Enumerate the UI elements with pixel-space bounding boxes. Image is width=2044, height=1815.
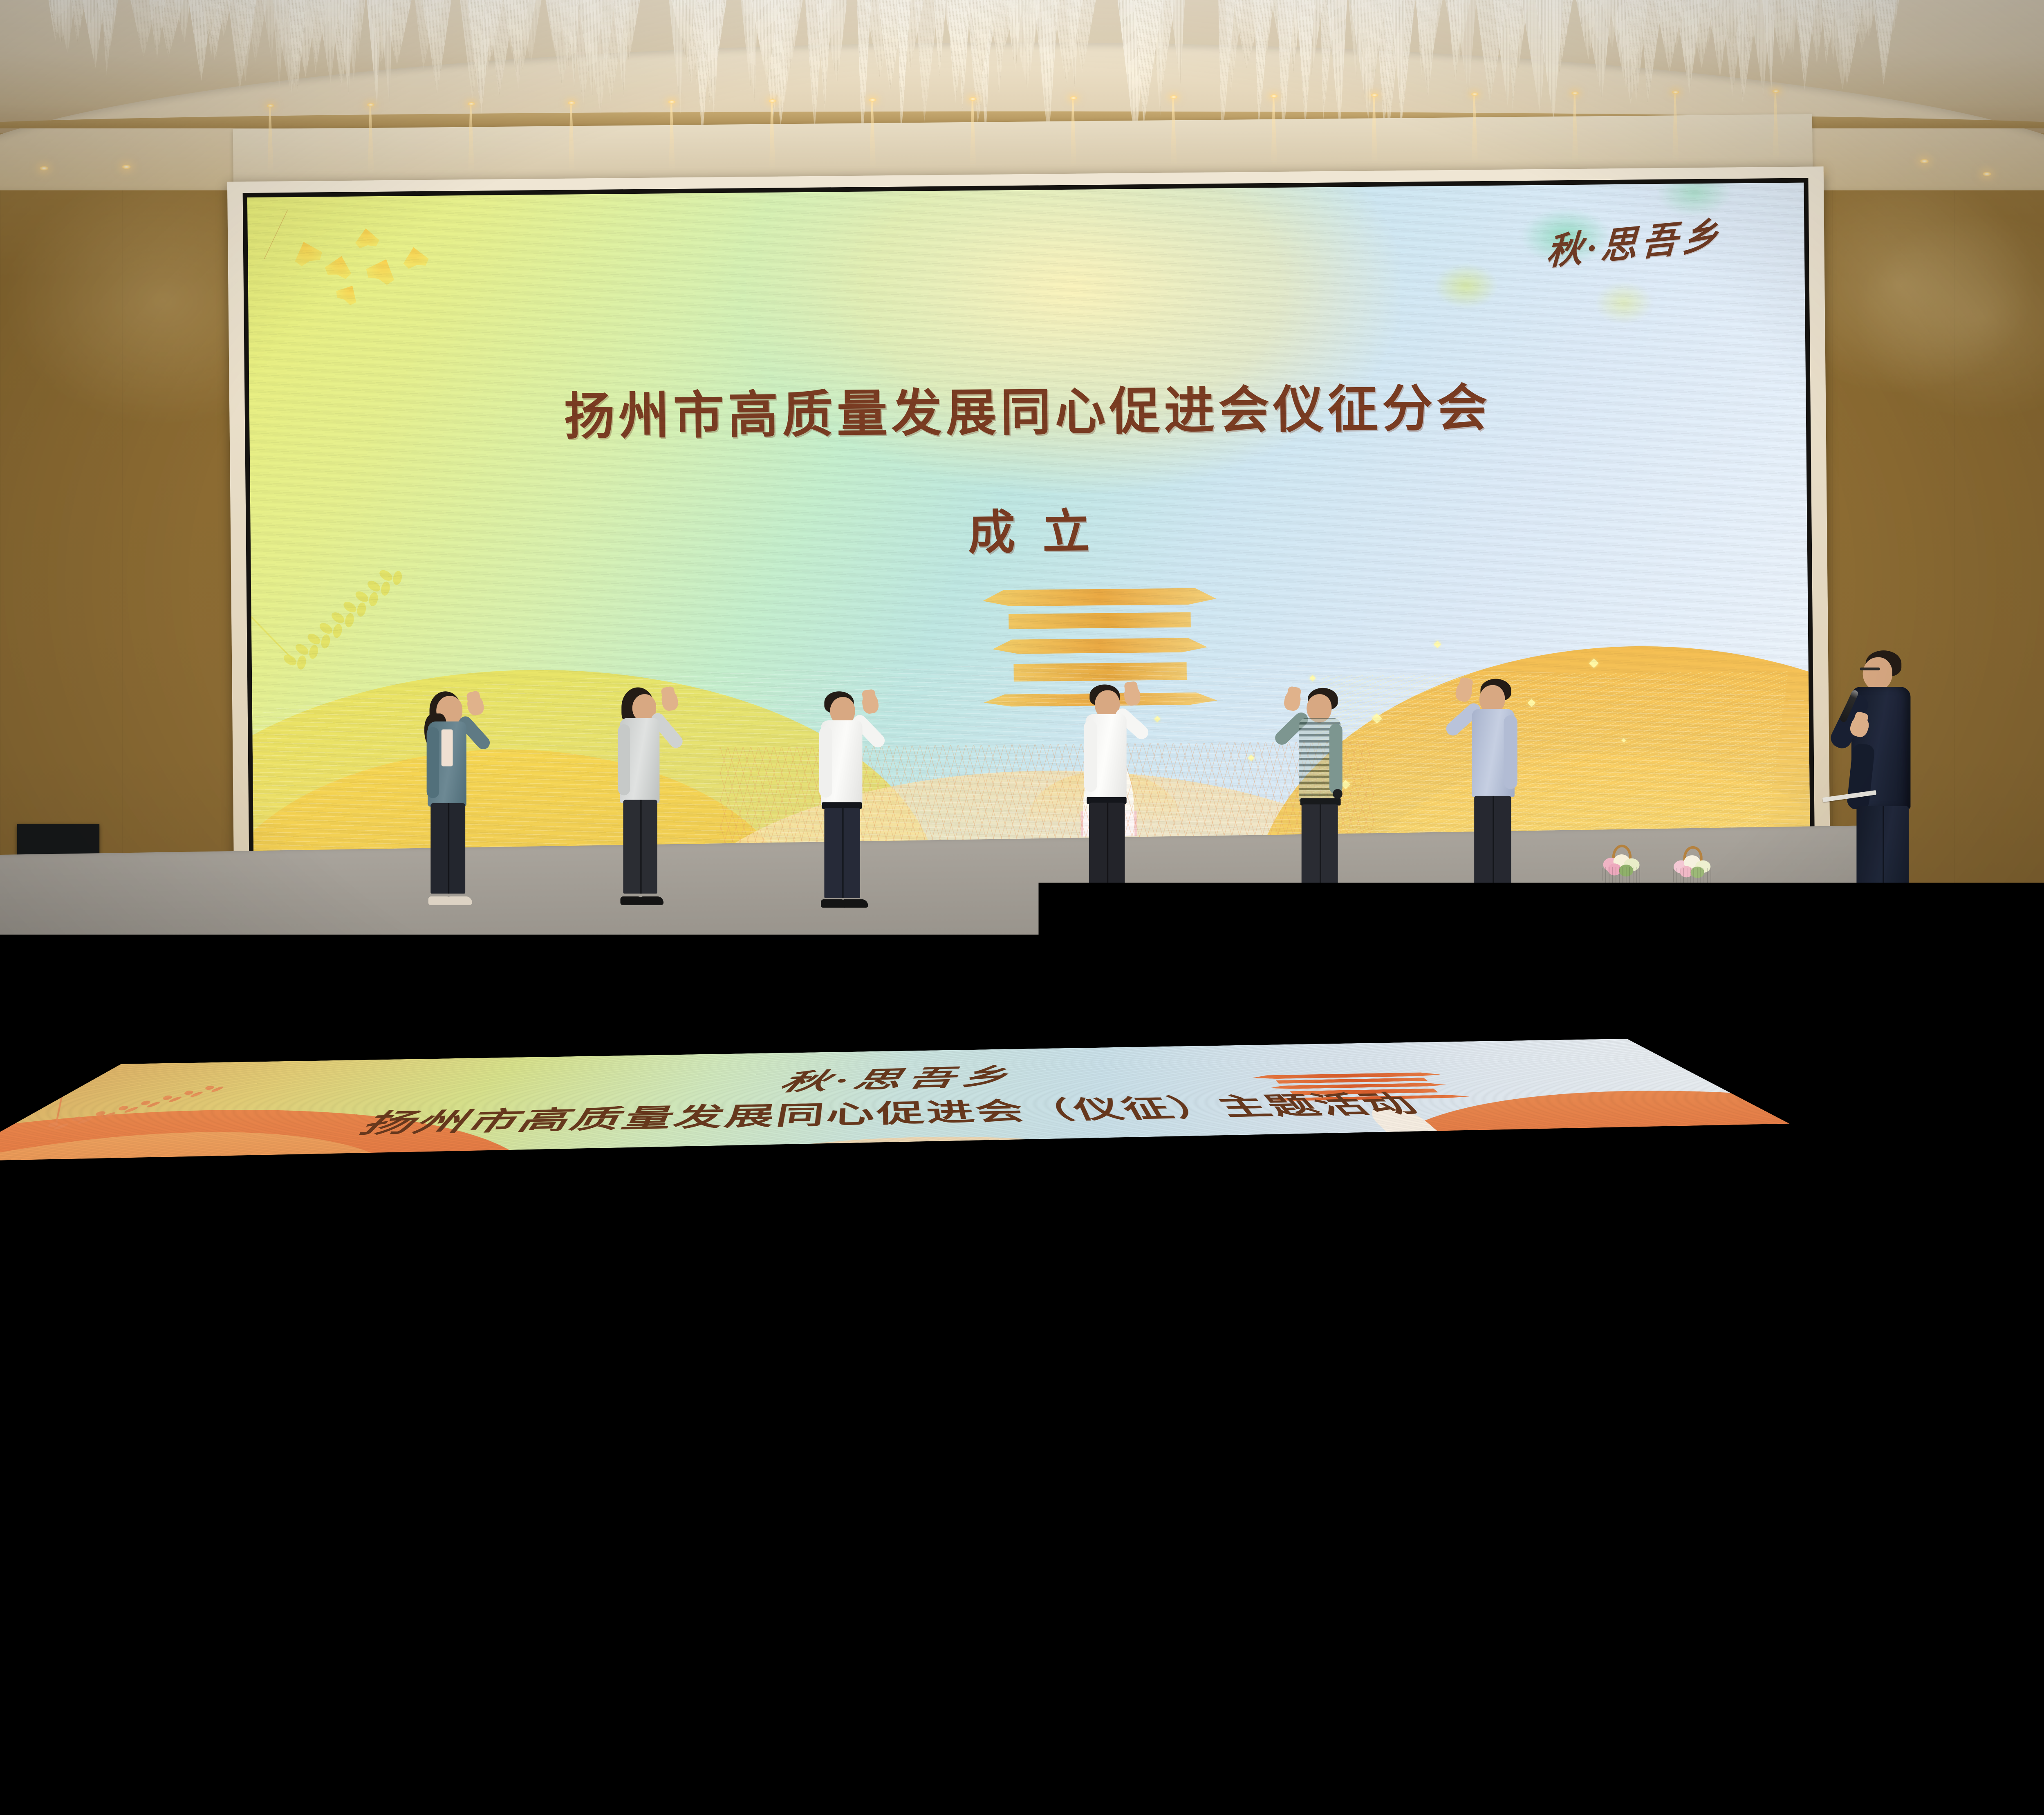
wheat-grain [308, 644, 319, 660]
legs [1302, 804, 1338, 898]
stair-step [1817, 1048, 2044, 1093]
screen-calligraphy-logo: 秋·思吾乡 [1545, 205, 1724, 276]
wheat-grain [365, 578, 382, 594]
flower-basket [1602, 847, 1642, 889]
ginkgo-stem [264, 210, 288, 259]
flower-basket [1673, 848, 1713, 890]
ceiling-downlight [122, 165, 131, 169]
ginkgo-leaf [360, 253, 403, 290]
shoe [842, 899, 868, 908]
sparkle-diamond [1622, 738, 1626, 742]
head [1863, 657, 1892, 690]
shoe [448, 896, 472, 905]
legs [1474, 796, 1511, 896]
lowered-arm [1329, 724, 1342, 794]
stair-step [1796, 1008, 2044, 1053]
wristwatch [1333, 789, 1342, 799]
wheat-grain [377, 568, 394, 583]
host-emcee [1829, 650, 1932, 940]
sparkle-diamond [1309, 675, 1316, 681]
wheat-grain [341, 600, 358, 615]
participant-man-white-shirt-center [1071, 682, 1156, 906]
downlight [769, 99, 776, 103]
sparkle-diamond [1372, 713, 1382, 724]
raised-hand [1283, 690, 1302, 712]
shoe [640, 896, 663, 905]
screen-main-subtitle: 成立 [250, 486, 1807, 569]
sun-glow-art [744, 183, 1402, 497]
wheat-grain [354, 589, 370, 604]
wheat-grain [356, 602, 367, 617]
stage-stairs [1749, 917, 2044, 1120]
raised-hand [1123, 685, 1141, 706]
ginkgo-leaf [398, 244, 433, 272]
shoe [1490, 896, 1518, 905]
lowered-arm [427, 727, 439, 798]
wheat-grain [329, 610, 346, 625]
ginkgo-leaf [331, 279, 364, 309]
inner-top [442, 729, 453, 766]
pagoda-tier [1014, 662, 1187, 681]
legs [824, 808, 860, 898]
raised-hand [1454, 680, 1474, 703]
sparkle-diamond [1248, 755, 1255, 761]
shoe [1317, 899, 1344, 908]
ginkgo-leaf [287, 237, 327, 271]
legs [1089, 803, 1125, 898]
participant-man-white-shirt-left [807, 687, 892, 906]
shoe [1879, 932, 1911, 942]
wheat-grain [320, 634, 331, 649]
ceiling-downlight [1983, 172, 1991, 176]
shoe [1107, 899, 1133, 908]
ginkgo-leaf [320, 253, 357, 283]
pagoda-tier [983, 584, 1217, 607]
lowered-arm [1504, 715, 1517, 789]
fan-ribbon-art [1301, 671, 1788, 834]
basket-body [1602, 867, 1642, 889]
eyeglasses [1860, 668, 1880, 670]
ceiling-downlight [1920, 159, 1929, 163]
wheat-grain [380, 581, 391, 596]
wheat-grain [392, 570, 403, 586]
legs [623, 800, 657, 894]
lowered-arm [618, 724, 630, 795]
legs-trousers [1856, 806, 1909, 931]
raised-hand [466, 694, 485, 717]
participant-man-green-polo [1273, 685, 1358, 906]
wheat-grain [306, 632, 322, 647]
ginkgo-leaf [351, 227, 382, 251]
legs [430, 803, 465, 894]
wheat-grain [282, 652, 298, 668]
downlight [468, 102, 475, 105]
downlight [1371, 93, 1378, 97]
ceiling-downlight [40, 166, 48, 170]
basket-body [1673, 868, 1713, 890]
participant-woman-teal-blazer [412, 687, 497, 903]
downlight [1070, 96, 1077, 100]
downlight [1672, 90, 1679, 94]
participant-man-light-blue-shirt [1446, 676, 1531, 903]
sparkle-diamond [1589, 659, 1598, 668]
wheat-grain [318, 621, 334, 636]
pagoda-tier [1009, 612, 1191, 629]
pagoda-tier [993, 634, 1208, 654]
lowered-arm [1084, 720, 1097, 792]
raised-hand [660, 690, 679, 712]
hill-yellow-left-2-art [247, 747, 799, 858]
wheat-grain [296, 655, 307, 670]
wheat-grain [344, 612, 355, 628]
lowered-arm [819, 726, 832, 798]
stage-photo-scene: 秋·思吾乡 扬州市高质量发展同心促进会仪征分会 成立 秋·思吾乡 扬州市高质量 [0, 0, 2044, 1261]
sparkle-diamond [1434, 641, 1441, 648]
stair-step [1773, 971, 2044, 1014]
wheat-grain [294, 642, 310, 657]
screen-main-title: 扬州市高质量发展同心促进会仪征分会 [249, 364, 1806, 452]
wheat-grain [368, 591, 379, 607]
wheat-grain [332, 623, 343, 639]
wheat-stalk [247, 598, 294, 660]
participant-woman-grey-top [605, 685, 690, 903]
raised-hand [861, 692, 879, 715]
